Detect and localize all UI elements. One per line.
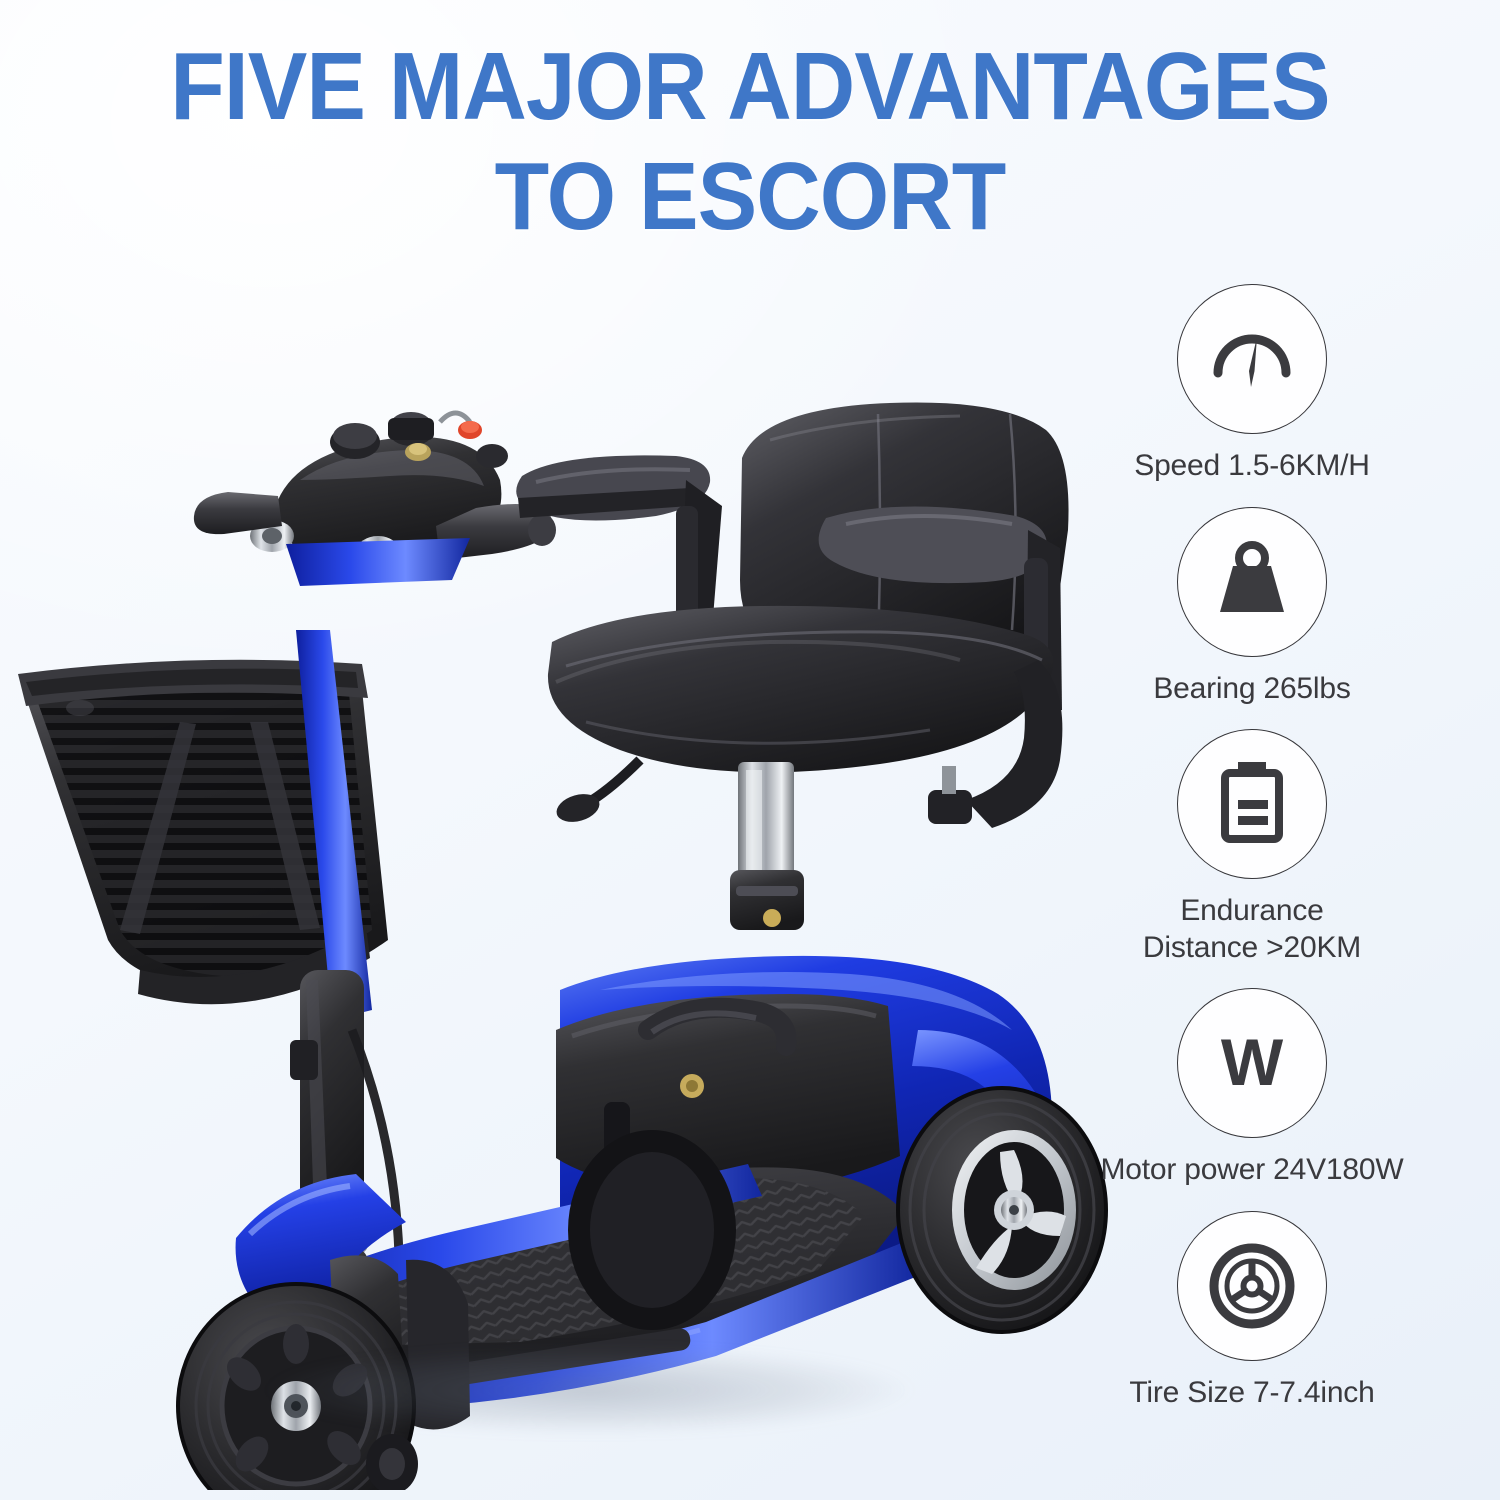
watt-letter-icon: W [1204, 1015, 1300, 1111]
title-line-2: TO ESCORT [53, 148, 1448, 246]
feature-icon-circle [1177, 284, 1327, 434]
feature-label: Tire Size 7-7.4inch [1129, 1375, 1374, 1412]
seat-assembly [516, 402, 1068, 930]
rear-left-wheel [568, 1130, 736, 1330]
title-line-1: FIVE MAJOR ADVANTAGES [53, 38, 1448, 136]
feature-item-speed: Speed 1.5-6KM/H [1042, 284, 1462, 485]
product-shadow [150, 1330, 1030, 1450]
product-feature-banner: FIVE MAJOR ADVANTAGES TO ESCORT [0, 0, 1500, 1500]
feature-label: Motor power 24V180W [1100, 1152, 1403, 1189]
speedometer-icon [1204, 311, 1300, 407]
feature-icon-circle: W [1177, 988, 1327, 1138]
feature-item-motor-power: W Motor power 24V180W [1042, 988, 1462, 1189]
feature-item-tire-size: Tire Size 7-7.4inch [1042, 1211, 1462, 1412]
watt-glyph: W [1221, 1025, 1284, 1099]
seat-cushion [548, 606, 1053, 772]
feature-label: Bearing 265lbs [1153, 671, 1350, 708]
feature-label: Speed 1.5-6KM/H [1134, 448, 1369, 485]
feature-label: Endurance Distance >20KM [1143, 893, 1361, 966]
weight-icon [1206, 536, 1298, 628]
scooter-illustration [0, 330, 1180, 1490]
battery-icon [1209, 758, 1295, 850]
tire-wheel-icon [1205, 1239, 1299, 1333]
feature-icon-circle [1177, 1211, 1327, 1361]
product-image [0, 330, 1180, 1490]
page-title: FIVE MAJOR ADVANTAGES TO ESCORT [0, 38, 1500, 246]
handlebar-tiller [194, 412, 556, 586]
feature-item-bearing: Bearing 265lbs [1042, 507, 1462, 708]
feature-list: Speed 1.5-6KM/H Bearing 265lbs [1042, 284, 1462, 1434]
feature-icon-circle [1177, 729, 1327, 879]
feature-icon-circle [1177, 507, 1327, 657]
feature-item-endurance: Endurance Distance >20KM [1042, 729, 1462, 966]
